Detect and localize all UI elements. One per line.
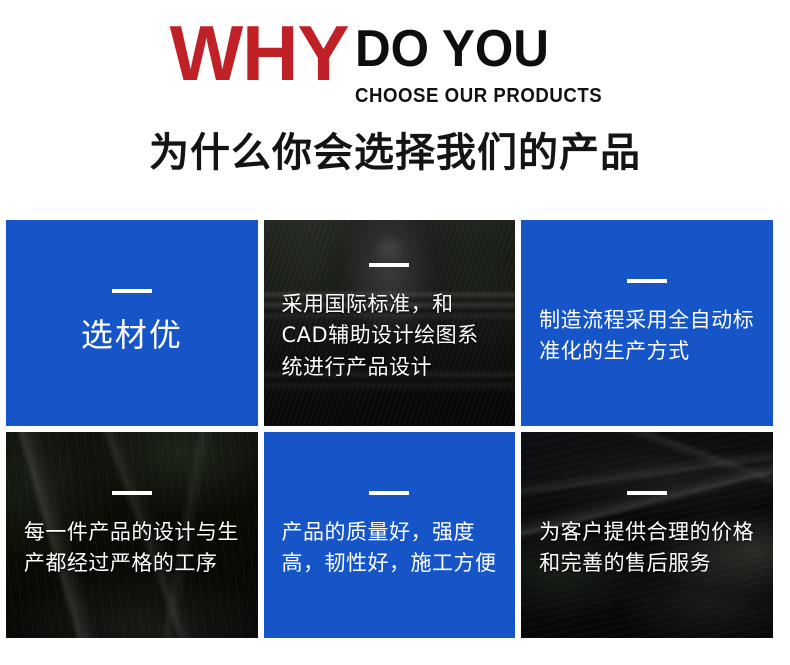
divider-dash-icon bbox=[369, 491, 409, 495]
headline-right-stack: DO YOU CHOOSE OUR PRODUCTS bbox=[355, 16, 621, 107]
feature-card-text: 产品的质量好，强度高，韧性好，施工方便 bbox=[281, 517, 497, 580]
page-subtitle-chinese: 为什么你会选择我们的产品 bbox=[0, 128, 790, 178]
feature-card-content: 为客户提供合理的价格和完善的售后服务 bbox=[521, 491, 773, 580]
divider-dash-icon bbox=[112, 289, 152, 293]
feature-card-text: 为客户提供合理的价格和完善的售后服务 bbox=[539, 517, 755, 580]
feature-card-content: 制造流程采用全自动标准化的生产方式 bbox=[521, 279, 773, 368]
feature-card-text: 选材优 bbox=[81, 315, 183, 357]
feature-grid: 选材优 采用国际标准，和CAD辅助设计绘图系统进行产品设计 制造流程采用全自动标… bbox=[6, 220, 773, 638]
headline-choose-our-products: CHOOSE OUR PRODUCTS bbox=[355, 85, 602, 107]
feature-card-content: 采用国际标准，和CAD辅助设计绘图系统进行产品设计 bbox=[264, 263, 516, 384]
divider-dash-icon bbox=[627, 279, 667, 283]
divider-dash-icon bbox=[112, 491, 152, 495]
headline-why: WHY bbox=[170, 16, 349, 90]
feature-card-2: 采用国际标准，和CAD辅助设计绘图系统进行产品设计 bbox=[264, 220, 516, 426]
feature-card-text: 采用国际标准，和CAD辅助设计绘图系统进行产品设计 bbox=[281, 289, 497, 384]
feature-card-5: 产品的质量好，强度高，韧性好，施工方便 bbox=[264, 432, 516, 638]
feature-card-1: 选材优 bbox=[6, 220, 258, 426]
headline-do-you: DO YOU bbox=[355, 22, 608, 77]
headline-inner: WHY DO YOU CHOOSE OUR PRODUCTS bbox=[170, 16, 621, 107]
feature-card-text: 每一件产品的设计与生产都经过严格的工序 bbox=[24, 517, 240, 580]
feature-card-6: 为客户提供合理的价格和完善的售后服务 bbox=[521, 432, 773, 638]
feature-card-4: 每一件产品的设计与生产都经过严格的工序 bbox=[6, 432, 258, 638]
feature-card-content: 每一件产品的设计与生产都经过严格的工序 bbox=[6, 491, 258, 580]
feature-card-content: 产品的质量好，强度高，韧性好，施工方便 bbox=[264, 491, 516, 580]
divider-dash-icon bbox=[369, 263, 409, 267]
feature-card-text: 制造流程采用全自动标准化的生产方式 bbox=[539, 305, 755, 368]
divider-dash-icon bbox=[627, 491, 667, 495]
headline: WHY DO YOU CHOOSE OUR PRODUCTS bbox=[0, 16, 790, 107]
promo-page: WHY DO YOU CHOOSE OUR PRODUCTS 为什么你会选择我们… bbox=[0, 0, 790, 665]
feature-card-3: 制造流程采用全自动标准化的生产方式 bbox=[521, 220, 773, 426]
feature-card-content: 选材优 bbox=[6, 289, 258, 357]
page-header: WHY DO YOU CHOOSE OUR PRODUCTS 为什么你会选择我们… bbox=[0, 0, 790, 212]
